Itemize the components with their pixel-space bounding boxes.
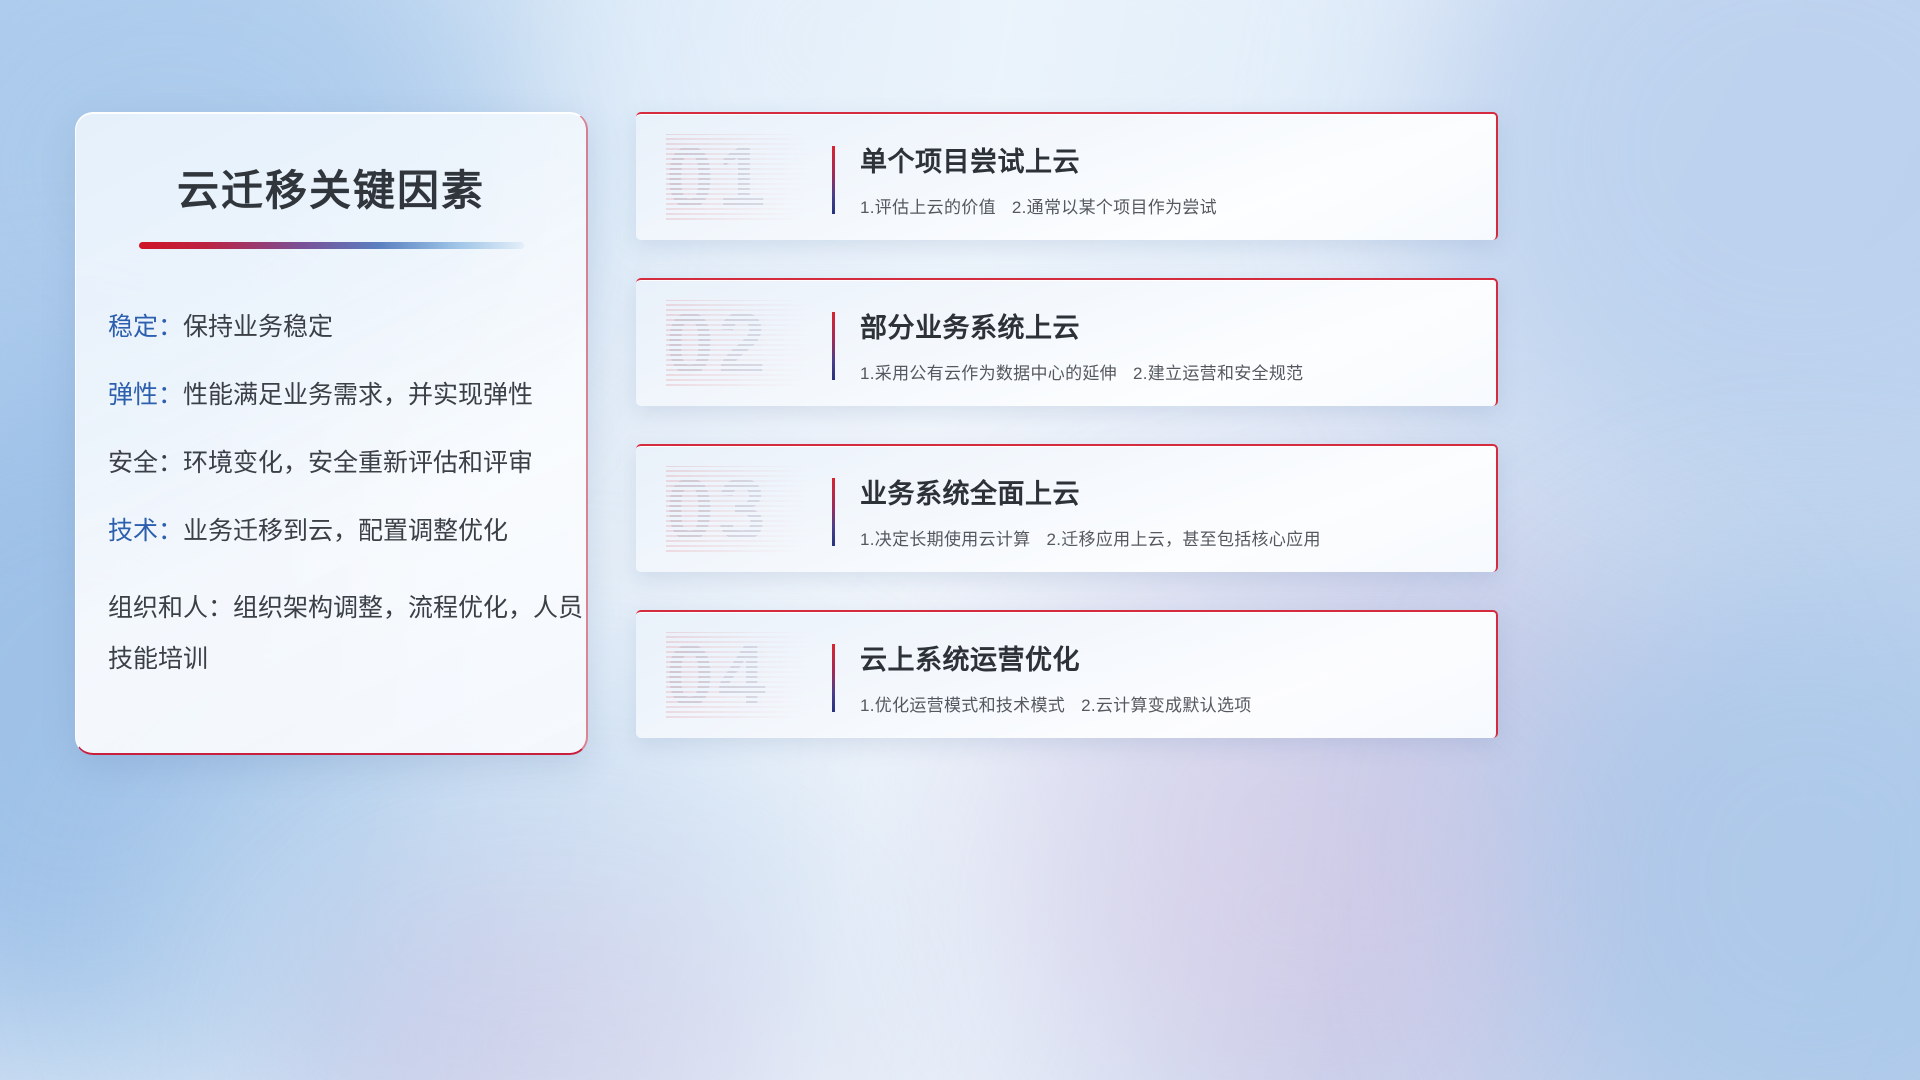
stage-card-list: 01单个项目尝试上云1.评估上云的价值2.通常以某个项目作为尝试02部分业务系统… — [636, 112, 1498, 738]
factor-label: 技术： — [108, 515, 183, 547]
stage-card[interactable]: 04云上系统运营优化1.优化运营模式和技术模式2.云计算变成默认选项 — [636, 610, 1498, 738]
factor-item: 组织和人：组织架构调整，流程优化，人员技能培训 — [108, 583, 586, 686]
stage-detail: 1.评估上云的价值2.通常以某个项目作为尝试 — [860, 193, 1474, 218]
stage-title: 云上系统运营优化 — [860, 638, 1474, 677]
stage-divider-bar — [832, 312, 835, 380]
stage-detail-item: 1.采用公有云作为数据中心的延伸 — [860, 364, 1117, 383]
stage-detail-item: 1.决定长期使用云计算 — [860, 530, 1030, 549]
stage-detail-item: 2.通常以某个项目作为尝试 — [1012, 198, 1217, 217]
stage-card[interactable]: 02部分业务系统上云1.采用公有云作为数据中心的延伸2.建立运营和安全规范 — [636, 278, 1498, 406]
factor-item: 弹性：性能满足业务需求，并实现弹性 — [108, 379, 586, 411]
factor-item: 技术：业务迁移到云，配置调整优化 — [108, 515, 586, 547]
stage-divider-bar — [832, 146, 835, 214]
key-factors-panel: 云迁移关键因素 稳定：保持业务稳定弹性：性能满足业务需求，并实现弹性安全：环境变… — [75, 112, 588, 755]
stage-detail-item: 2.迁移应用上云，甚至包括核心应用 — [1046, 530, 1320, 549]
factor-value: 环境变化，安全重新评估和评审 — [183, 447, 533, 479]
factor-label: 弹性： — [108, 379, 183, 411]
stage-detail: 1.优化运营模式和技术模式2.云计算变成默认选项 — [860, 691, 1474, 716]
stage-detail-item: 2.建立运营和安全规范 — [1133, 364, 1303, 383]
page-title: 云迁移关键因素 — [76, 157, 586, 218]
factor-label: 安全： — [108, 447, 183, 479]
stage-number-watermark: 04 — [666, 626, 836, 726]
stage-card-body: 云上系统运营优化1.优化运营模式和技术模式2.云计算变成默认选项 — [860, 638, 1474, 716]
factor-item: 稳定：保持业务稳定 — [108, 311, 586, 343]
stage-number-watermark: 03 — [666, 460, 836, 560]
stage-number-watermark: 02 — [666, 294, 836, 394]
factor-list: 稳定：保持业务稳定弹性：性能满足业务需求，并实现弹性安全：环境变化，安全重新评估… — [108, 311, 586, 686]
factor-value: 保持业务稳定 — [183, 311, 333, 343]
stage-number-watermark: 01 — [666, 128, 836, 228]
stage-title: 单个项目尝试上云 — [860, 140, 1474, 179]
title-underline-accent — [139, 242, 524, 249]
stage-divider-bar — [832, 478, 835, 546]
stage-card[interactable]: 01单个项目尝试上云1.评估上云的价值2.通常以某个项目作为尝试 — [636, 112, 1498, 240]
stage-title: 部分业务系统上云 — [860, 306, 1474, 345]
factor-value: 性能满足业务需求，并实现弹性 — [183, 379, 533, 411]
stage-detail-item: 2.云计算变成默认选项 — [1081, 696, 1251, 715]
stage-title: 业务系统全面上云 — [860, 472, 1474, 511]
factor-label: 稳定： — [108, 311, 183, 343]
stage-detail-item: 1.优化运营模式和技术模式 — [860, 696, 1065, 715]
stage-card-body: 单个项目尝试上云1.评估上云的价值2.通常以某个项目作为尝试 — [860, 140, 1474, 218]
stage-card-body: 部分业务系统上云1.采用公有云作为数据中心的延伸2.建立运营和安全规范 — [860, 306, 1474, 384]
factor-label: 组织和人： — [108, 594, 233, 622]
factor-value: 业务迁移到云，配置调整优化 — [183, 515, 508, 547]
stage-detail-item: 1.评估上云的价值 — [860, 198, 996, 217]
factor-item: 安全：环境变化，安全重新评估和评审 — [108, 447, 586, 479]
stage-card[interactable]: 03业务系统全面上云1.决定长期使用云计算2.迁移应用上云，甚至包括核心应用 — [636, 444, 1498, 572]
stage-detail: 1.决定长期使用云计算2.迁移应用上云，甚至包括核心应用 — [860, 525, 1474, 550]
stage-detail: 1.采用公有云作为数据中心的延伸2.建立运营和安全规范 — [860, 359, 1474, 384]
stage-divider-bar — [832, 644, 835, 712]
stage-card-body: 业务系统全面上云1.决定长期使用云计算2.迁移应用上云，甚至包括核心应用 — [860, 472, 1474, 550]
